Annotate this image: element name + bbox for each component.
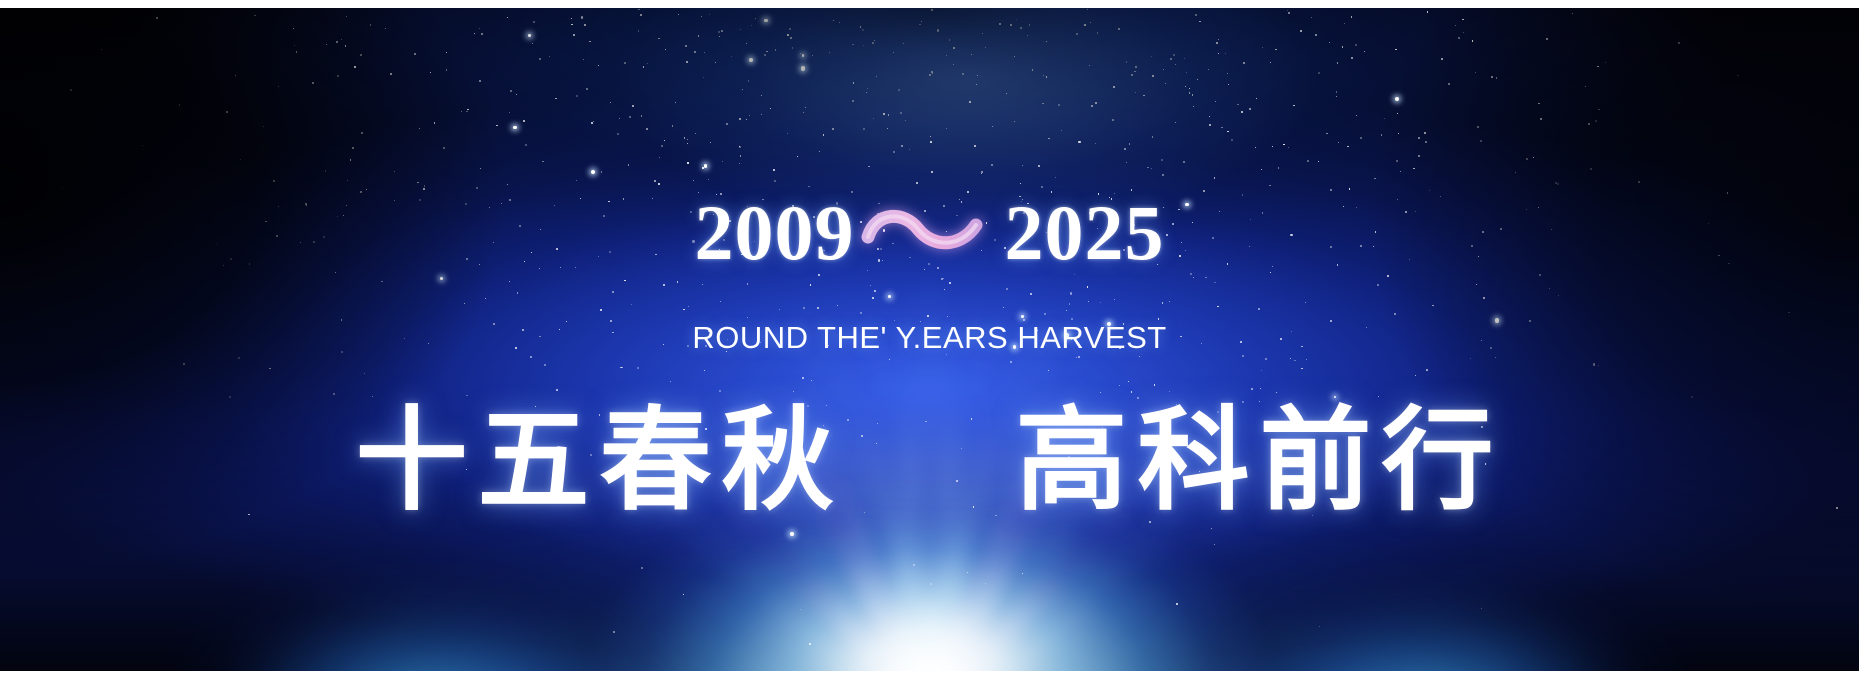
headline-row: 十五春秋 高科前行 bbox=[0, 404, 1859, 518]
subtitle-text: ROUND THE' Y.EARS HARVEST bbox=[0, 320, 1859, 356]
headline-left: 十五春秋 bbox=[356, 404, 844, 518]
year-start: 2009 bbox=[695, 194, 855, 272]
year-end: 2025 bbox=[1005, 194, 1165, 272]
bottom-letterbox-strip bbox=[0, 671, 1859, 680]
wave-tilde-icon bbox=[855, 194, 1005, 272]
top-letterbox-strip bbox=[0, 0, 1859, 8]
banner-content: 2009 2025 ROUND THE' bbox=[0, 8, 1859, 671]
anniversary-banner: 2009 2025 ROUND THE' bbox=[0, 0, 1859, 680]
headline-right: 高科前行 bbox=[1016, 404, 1504, 518]
year-range: 2009 2025 bbox=[0, 194, 1859, 272]
headline-gap bbox=[844, 461, 1016, 462]
